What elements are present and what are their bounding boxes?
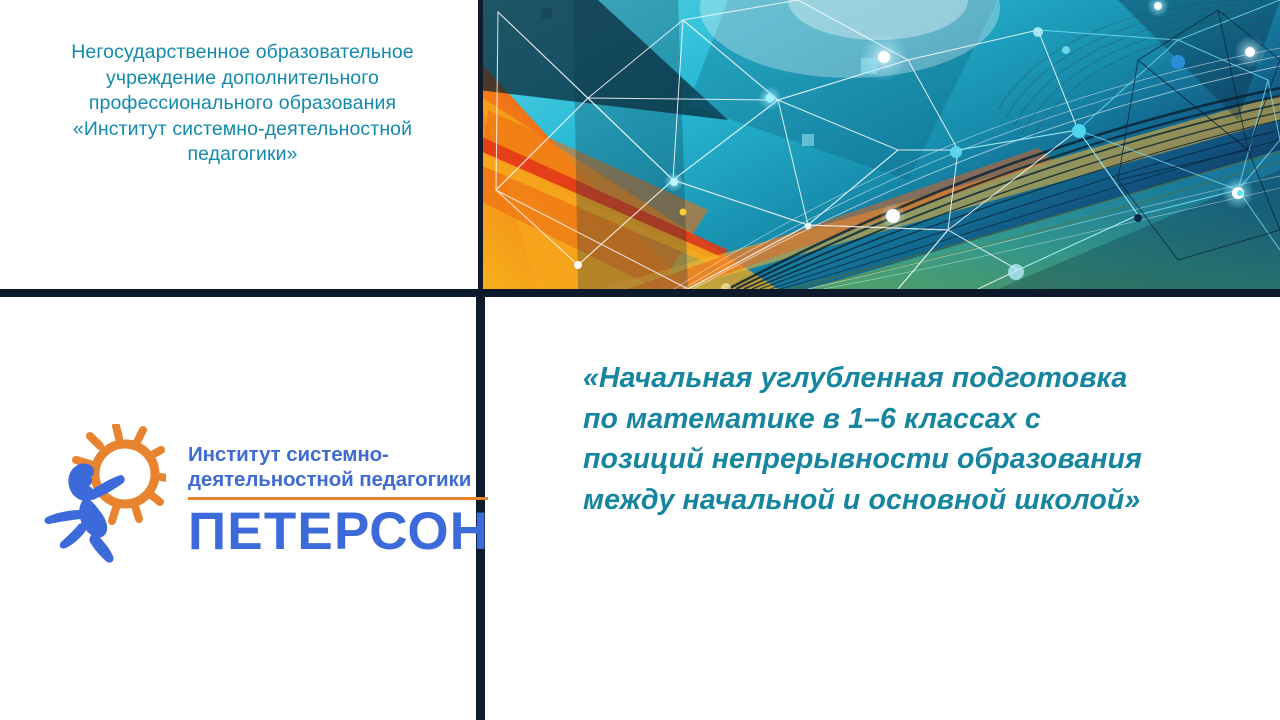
hero-left-edge (478, 0, 483, 289)
slide-title: «Начальная углубленная подготовка по мат… (583, 358, 1143, 520)
organization-name: Негосударственное образовательное учрежд… (60, 40, 425, 168)
divider-horizontal (0, 289, 1280, 297)
presentation-slide: Негосударственное образовательное учрежд… (0, 0, 1280, 720)
sun-child-mark (40, 424, 166, 564)
abstract-network-graphic (478, 0, 1280, 289)
peterson-sun-and-child-logo-icon (40, 424, 166, 564)
logo-brand-name: ПЕТЕРСОН (188, 503, 493, 561)
peterson-logo-text: Институт системно- деятельностной педаго… (188, 442, 493, 561)
logo-institute-line-1: Институт системно- (188, 442, 493, 467)
logo-divider-rule (188, 497, 488, 500)
peterson-logo: Институт системно- деятельностной педаго… (40, 424, 455, 569)
hero-network-image (478, 0, 1280, 289)
logo-institute-line-2: деятельностной педагогики (188, 467, 493, 492)
slide-title-block: «Начальная углубленная подготовка по мат… (583, 358, 1143, 520)
organization-name-block: Негосударственное образовательное учрежд… (60, 40, 425, 168)
